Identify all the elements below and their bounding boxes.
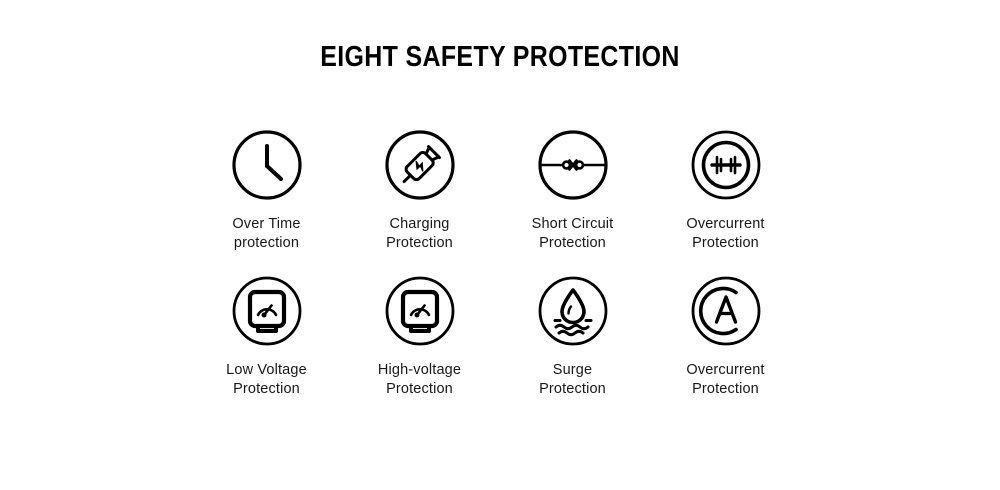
label-line-2: protection [232, 234, 300, 253]
protection-item-low-voltage: Low Voltage Protection [190, 274, 343, 398]
label-line-2: Protection [226, 380, 307, 399]
label-line-2: Protection [378, 380, 461, 399]
voltage-meter-icon [230, 274, 304, 348]
label-line-1: Over Time [232, 216, 300, 232]
protection-item-label: Over Time protection [232, 215, 300, 252]
protection-item-label: Short Circuit Protection [532, 215, 614, 252]
label-line-2: Protection [539, 380, 606, 399]
protection-item-label: High-voltage Protection [378, 361, 461, 398]
protection-item-label: Surge Protection [539, 361, 606, 398]
label-line-2: Protection [532, 234, 614, 253]
label-line-1: Overcurrent [686, 216, 764, 232]
label-line-1: Low Voltage [226, 362, 307, 378]
protection-item-over-time: Over Time protection [190, 128, 343, 252]
protection-row-top: Over Time protection [190, 128, 810, 252]
charging-plug-icon [383, 128, 457, 202]
short-circuit-icon [536, 128, 610, 202]
protection-item-overcurrent-ampere: Overcurrent Protection [649, 274, 802, 398]
protection-item-label: Overcurrent Protection [686, 361, 764, 398]
protection-item-label: Overcurrent Protection [686, 215, 764, 252]
label-line-1: Overcurrent [686, 362, 764, 378]
clock-icon [230, 128, 304, 202]
protection-item-surge: Surge Protection [496, 274, 649, 398]
protection-item-short-circuit: Short Circuit Protection [496, 128, 649, 252]
voltage-meter-icon [383, 274, 457, 348]
protection-item-high-voltage: High-voltage Protection [343, 274, 496, 398]
water-drop-icon [536, 274, 610, 348]
fuse-icon [689, 128, 763, 202]
label-line-2: Protection [686, 234, 764, 253]
label-line-2: Protection [686, 380, 764, 399]
protection-row-bottom: Low Voltage Protection High-v [190, 274, 810, 398]
label-line-1: Short Circuit [532, 216, 614, 232]
label-line-1: Charging [389, 216, 449, 232]
label-line-1: High-voltage [378, 362, 461, 378]
ampere-icon [689, 274, 763, 348]
protection-item-overcurrent-fuse: Overcurrent Protection [649, 128, 802, 252]
protection-grid: Over Time protection [190, 128, 810, 398]
protection-item-charging: Charging Protection [343, 128, 496, 252]
label-line-2: Protection [386, 234, 453, 253]
protection-item-label: Low Voltage Protection [226, 361, 307, 398]
page-title: EIGHT SAFETY PROTECTION [70, 41, 930, 74]
protection-item-label: Charging Protection [386, 215, 453, 252]
safety-protection-infographic: EIGHT SAFETY PROTECTION Over Time protec… [0, 0, 1000, 490]
label-line-1: Surge [553, 362, 592, 378]
